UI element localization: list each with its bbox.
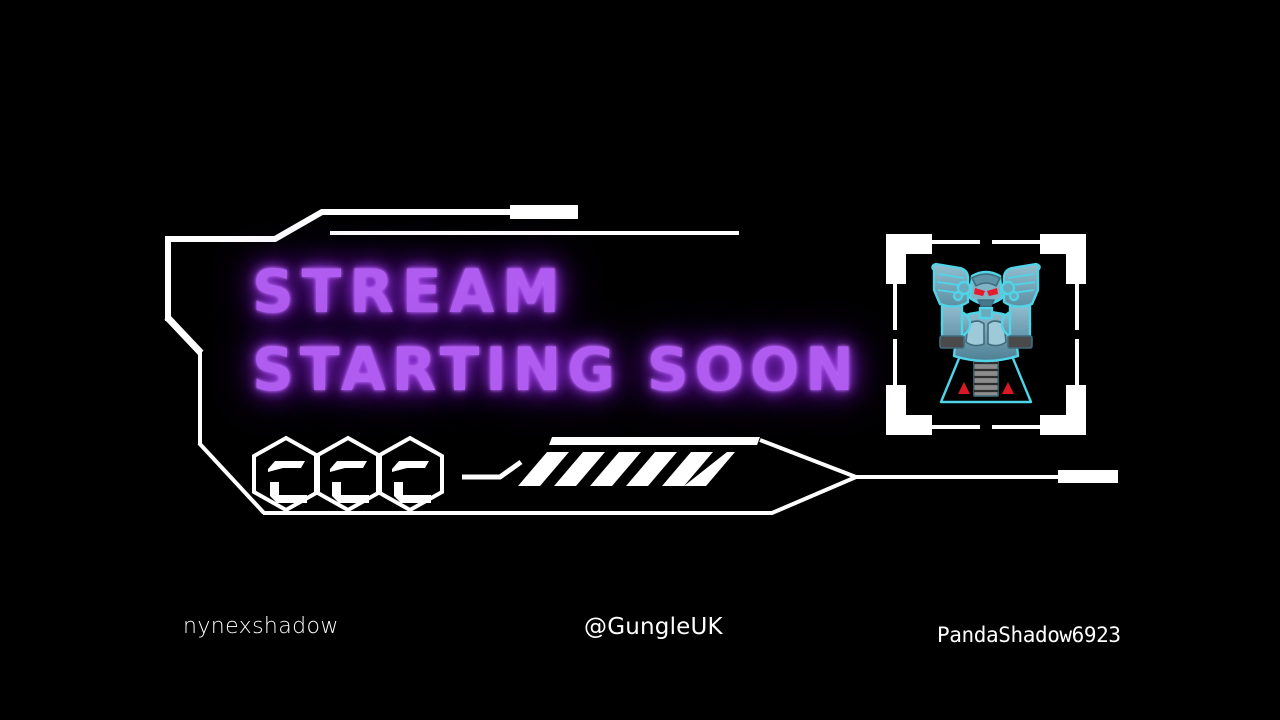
twitter-handle-label: @GungleUK xyxy=(584,614,723,640)
hud-arrow-upper-edge xyxy=(760,440,856,477)
hud-top-bar-segment xyxy=(510,205,578,219)
hud-stripe-block xyxy=(518,452,735,486)
hud-top-rail xyxy=(165,212,516,239)
headline-line-2: STARTING SOON xyxy=(252,340,853,400)
hud-left-diagonal xyxy=(167,317,201,353)
hud-stripe-top-bar xyxy=(549,437,760,445)
hud-bottom-bar-segment xyxy=(1058,470,1118,483)
hud-bottom-left-diagonal xyxy=(199,443,264,513)
twitch-handle-label: nynexshadow xyxy=(183,614,339,639)
hud-top-thin-line xyxy=(330,231,739,235)
hud-bottom-rail xyxy=(263,477,1062,513)
hud-hex-chip-1 xyxy=(254,438,318,510)
page-title: STREAM STARTING SOON xyxy=(252,262,872,400)
overlay-stage: STREAM STARTING SOON xyxy=(0,0,1280,720)
headline-line-1: STREAM xyxy=(252,262,853,322)
logo-badge xyxy=(884,232,1088,437)
robot-mascot-icon xyxy=(896,244,1076,424)
hud-hex-chip-3 xyxy=(378,438,442,510)
hud-left-vertical xyxy=(165,239,171,321)
hud-hex-chip-2 xyxy=(316,438,380,510)
hud-connector-dash xyxy=(462,462,521,477)
discord-handle-label: PandaShadow6923 xyxy=(937,623,1121,647)
hud-left-thin-vertical xyxy=(198,351,202,445)
